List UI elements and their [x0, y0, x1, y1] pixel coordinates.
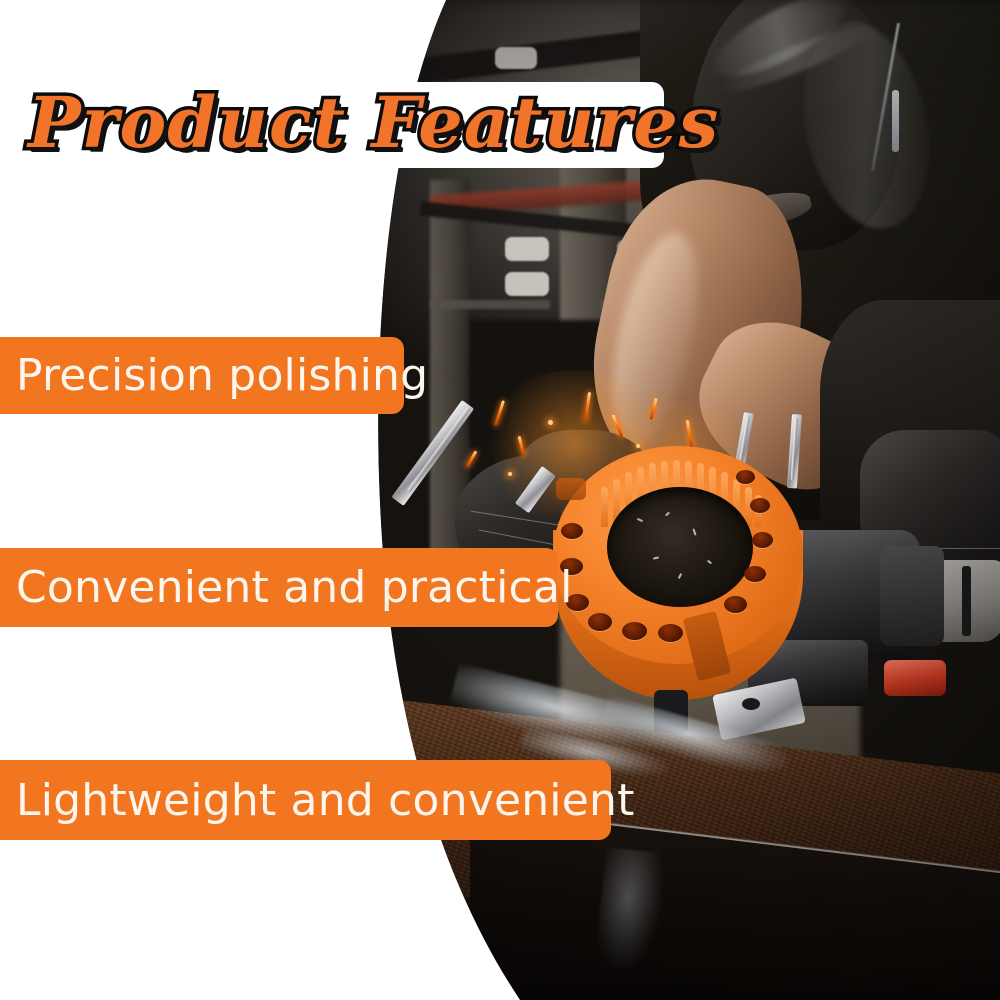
page-title: Product Features [28, 80, 719, 166]
feature-label-3: Lightweight and convenient [0, 775, 635, 826]
feature-label-2: Convenient and practical [0, 562, 573, 613]
product-feature-image: Product Features Precision polishing Con… [0, 0, 1000, 1000]
feature-bar-2: Convenient and practical [0, 548, 558, 627]
feature-bar-3: Lightweight and convenient [0, 760, 611, 840]
feature-label-1: Precision polishing [0, 350, 428, 401]
feature-bar-1: Precision polishing [0, 337, 404, 414]
